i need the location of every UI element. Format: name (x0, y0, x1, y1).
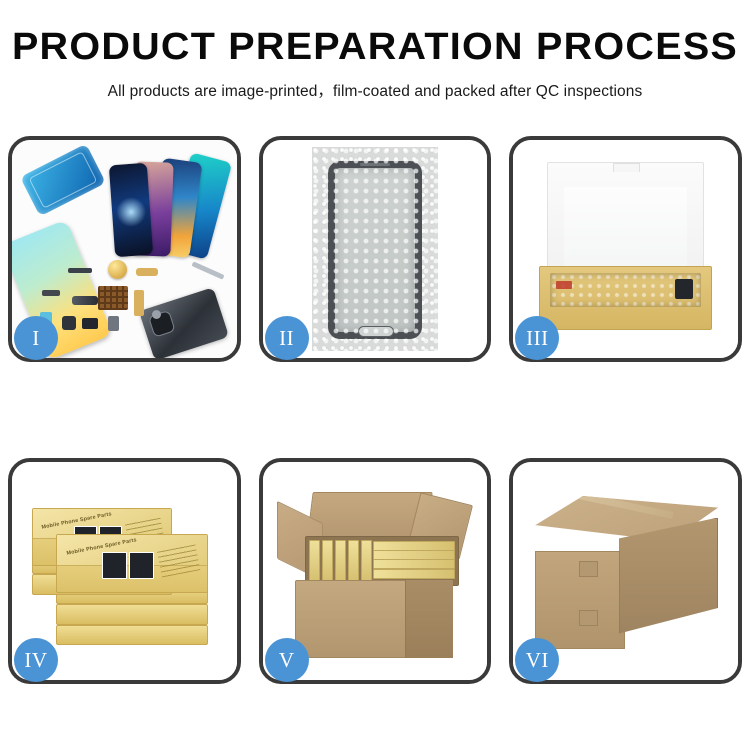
step-panel-6[interactable]: VI (509, 458, 742, 684)
carton-tape-icon (569, 490, 673, 519)
gold-coil-part-icon (108, 260, 127, 279)
spare-part-icon (62, 316, 76, 330)
open-carton (283, 488, 470, 658)
step-badge-3: III (515, 316, 559, 360)
kraft-box-base-icon (539, 266, 712, 330)
step-badge-5: V (265, 638, 309, 682)
spare-part-icon (68, 268, 92, 273)
box-lid-icon (547, 162, 704, 282)
spare-part-icon (108, 316, 119, 331)
box-stack: Mobile Phone Spare Parts Mobile Phone Sp… (24, 478, 227, 666)
carton-handle-tab-icon (579, 610, 597, 626)
process-steps-grid: I II III (8, 136, 742, 684)
phone-screen-icon (328, 161, 422, 339)
box-product-thumb-icon (102, 552, 126, 579)
white-foam-liner-icon (564, 187, 687, 275)
step-badge-1: I (14, 316, 58, 360)
spare-part-icon (136, 268, 158, 276)
spare-part-icon (191, 261, 224, 279)
step-badge-4: IV (14, 638, 58, 682)
page-header: PRODUCT PREPARATION PROCESS All products… (0, 0, 750, 101)
step-panel-1[interactable]: I (8, 136, 241, 362)
carton-handle-tab-icon (579, 561, 597, 577)
carton-body-icon (295, 580, 454, 658)
step-panel-4[interactable]: Mobile Phone Spare Parts Mobile Phone Sp… (8, 458, 241, 684)
spare-part-icon (42, 290, 60, 296)
step-badge-6: VI (515, 638, 559, 682)
carton-interior-icon (305, 536, 460, 586)
bubble-wrap-sheet (312, 147, 438, 351)
phone-rear-housing-icon (139, 287, 229, 358)
packed-boxes-group (309, 540, 456, 582)
retail-box-icon (56, 604, 208, 625)
box-product-thumb-icon (129, 552, 153, 579)
sealed-carton (535, 496, 718, 650)
step-badge-2: II (265, 316, 309, 360)
retail-box-top-icon: Mobile Phone Spare Parts (56, 534, 208, 592)
step-panel-5[interactable]: V (259, 458, 492, 684)
spare-part-icon (134, 290, 144, 316)
inner-box (539, 162, 712, 330)
step-panel-2[interactable]: II (259, 136, 492, 362)
spare-part-icon (152, 310, 161, 319)
retail-box-icon (56, 625, 208, 646)
phone-lineup-icon (90, 148, 220, 256)
spare-part-icon (82, 318, 98, 329)
page-subtitle: All products are image-printed，film-coat… (0, 79, 750, 101)
wrapped-screen-in-tray-icon (550, 273, 701, 307)
spare-part-icon (72, 296, 98, 305)
step-panel-3[interactable]: III (509, 136, 742, 362)
page-title: PRODUCT PREPARATION PROCESS (0, 28, 750, 66)
copper-chip-grid-icon (98, 286, 128, 310)
